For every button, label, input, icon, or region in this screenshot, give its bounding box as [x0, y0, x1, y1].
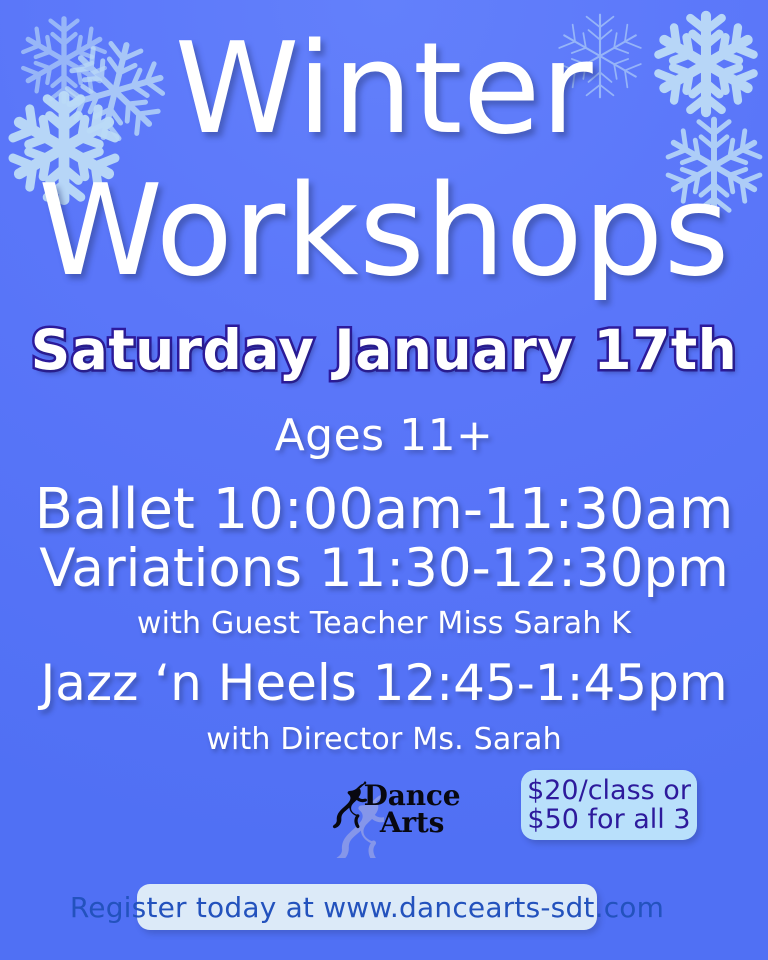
dance-arts-wordmark: Dance Arts — [362, 782, 462, 837]
class-teacher-jazz-n-heels: with Director Ms. Sarah — [0, 722, 768, 757]
class-listing-ballet: Ballet 10:00am-11:30am — [0, 482, 768, 538]
logo-word-line-1: Dance — [362, 782, 462, 809]
price-badge-line-1: $20/class or — [527, 776, 691, 805]
poster-title-line-1: Winter — [0, 26, 768, 152]
register-cta-bar[interactable]: Register today at www.dancearts-sdt.com — [137, 884, 597, 930]
poster-content: Winter Workshops Saturday January 17th A… — [0, 0, 768, 960]
logo-word-line-2: Arts — [362, 809, 462, 836]
poster-title-line-2: Workshops — [0, 168, 768, 294]
event-date: Saturday January 17th — [0, 322, 768, 380]
winter-workshops-poster: Winter Workshops Saturday January 17th A… — [0, 0, 768, 960]
class-listing-jazz-n-heels: Jazz ‘n Heels 12:45-1:45pm — [0, 658, 768, 708]
register-cta-text: Register today at www.dancearts-sdt.com — [70, 891, 664, 924]
class-teacher-variations: with Guest Teacher Miss Sarah K — [0, 606, 768, 641]
price-badge-line-2: $50 for all 3 — [527, 805, 690, 834]
age-requirement: Ages 11+ — [0, 410, 768, 461]
dance-arts-logo: Dance Arts — [312, 778, 457, 858]
class-listing-variations: Variations 11:30-12:30pm — [0, 542, 768, 595]
price-badge: $20/class or $50 for all 3 — [521, 770, 697, 840]
